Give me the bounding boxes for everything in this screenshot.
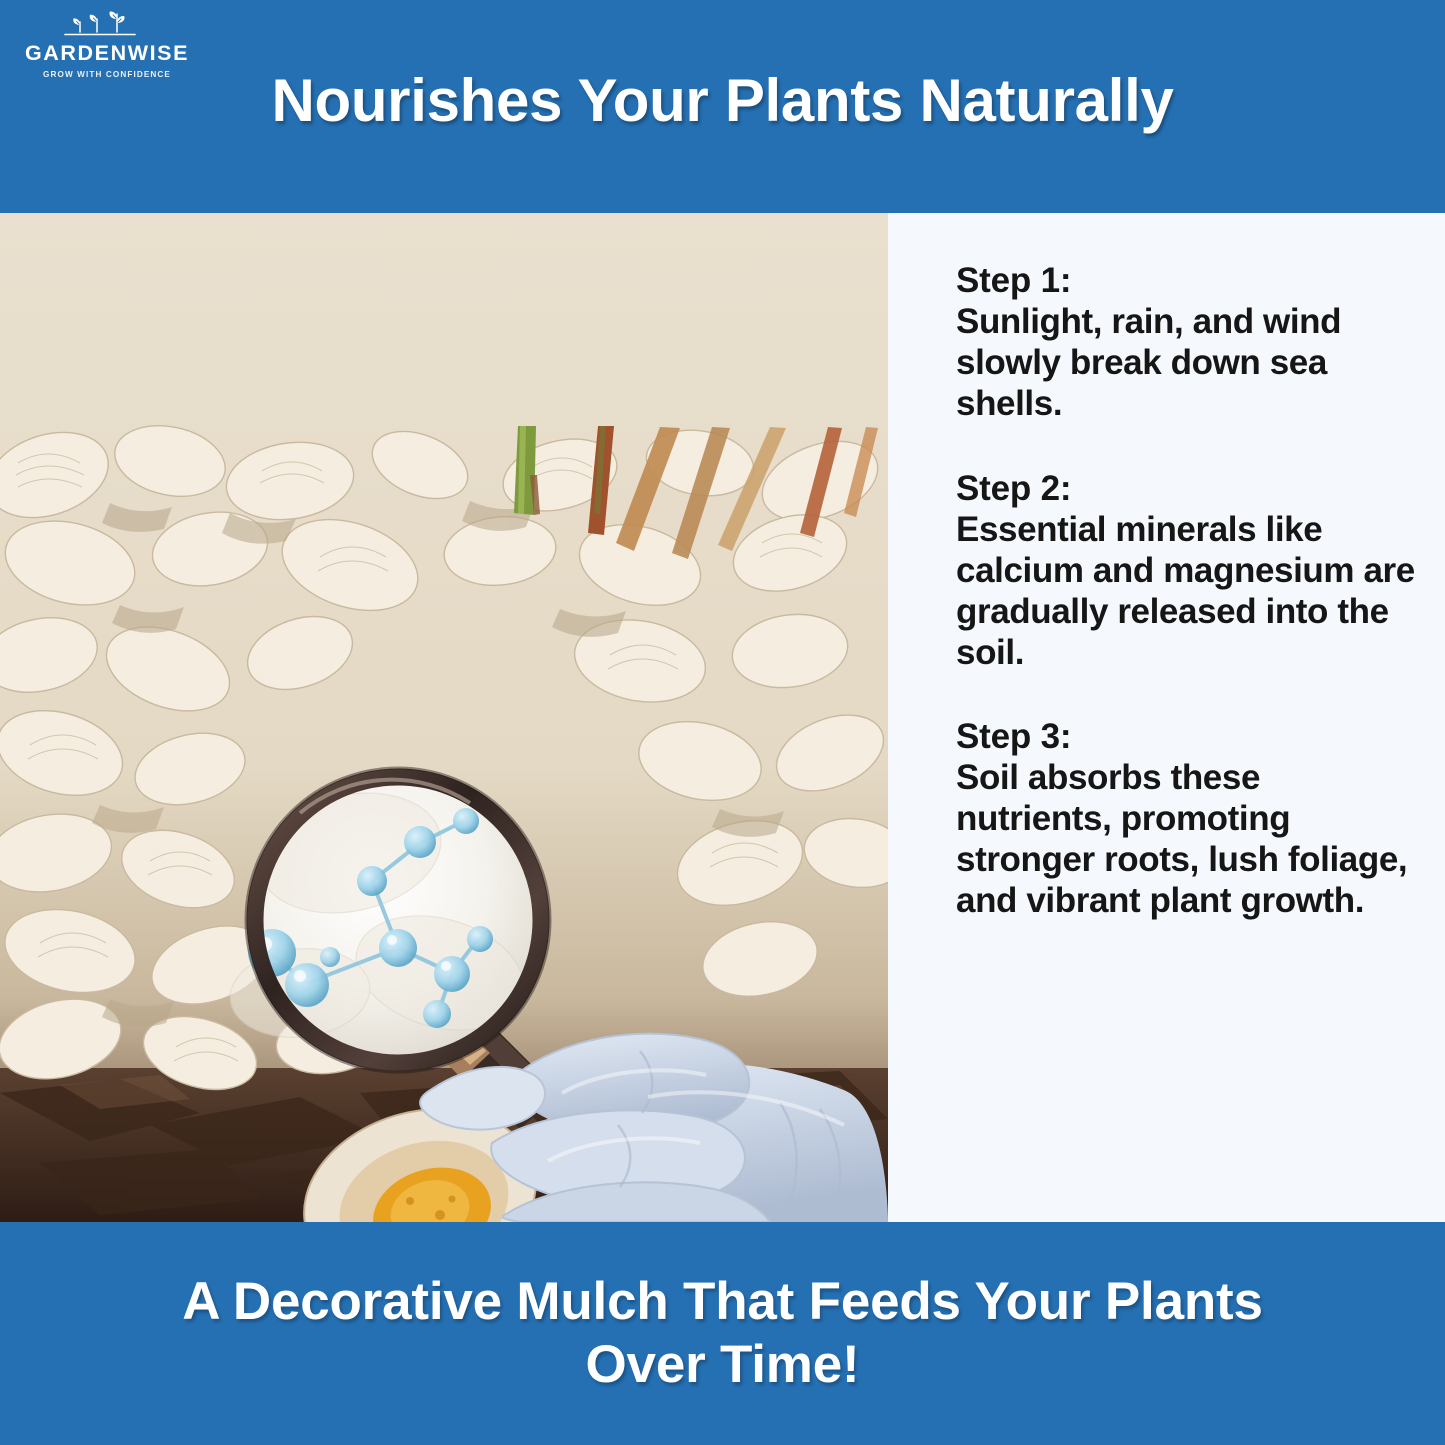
step-2-body: Essential minerals like calcium and magn… — [956, 510, 1415, 674]
header-band: GARDENWISE GROW WITH CONFIDENCE Nourishe… — [0, 0, 1445, 213]
step-block-3: Step 3: Soil absorbs these nutrients, pr… — [956, 717, 1415, 922]
step-1-body: Sunlight, rain, and wind slowly break do… — [956, 302, 1415, 425]
brand-logo: GARDENWISE GROW WITH CONFIDENCE — [22, 8, 192, 79]
step-block-1: Step 1: Sunlight, rain, and wind slowly … — [956, 261, 1415, 425]
step-2-label: Step 2: — [956, 469, 1415, 510]
brand-name: GARDENWISE — [22, 43, 192, 65]
step-3-body: Soil absorbs these nutrients, promoting … — [956, 758, 1415, 922]
footer-band: A Decorative Mulch That Feeds Your Plant… — [0, 1222, 1445, 1445]
step-block-2: Step 2: Essential minerals like calcium … — [956, 469, 1415, 674]
shell-mulch-photo-illustration — [0, 213, 888, 1222]
steps-panel: Step 1: Sunlight, rain, and wind slowly … — [888, 213, 1445, 1222]
step-3-label: Step 3: — [956, 717, 1415, 758]
product-infographic: GARDENWISE GROW WITH CONFIDENCE Nourishe… — [0, 0, 1445, 1445]
page-title: Nourishes Your Plants Naturally — [0, 69, 1445, 132]
product-photo — [0, 213, 888, 1222]
footer-tagline-line-1: A Decorative Mulch That Feeds Your Plant… — [182, 1271, 1263, 1334]
footer-tagline-line-2: Over Time! — [586, 1334, 860, 1397]
seedling-sprouts-icon — [43, 8, 171, 42]
step-1-label: Step 1: — [956, 261, 1415, 302]
